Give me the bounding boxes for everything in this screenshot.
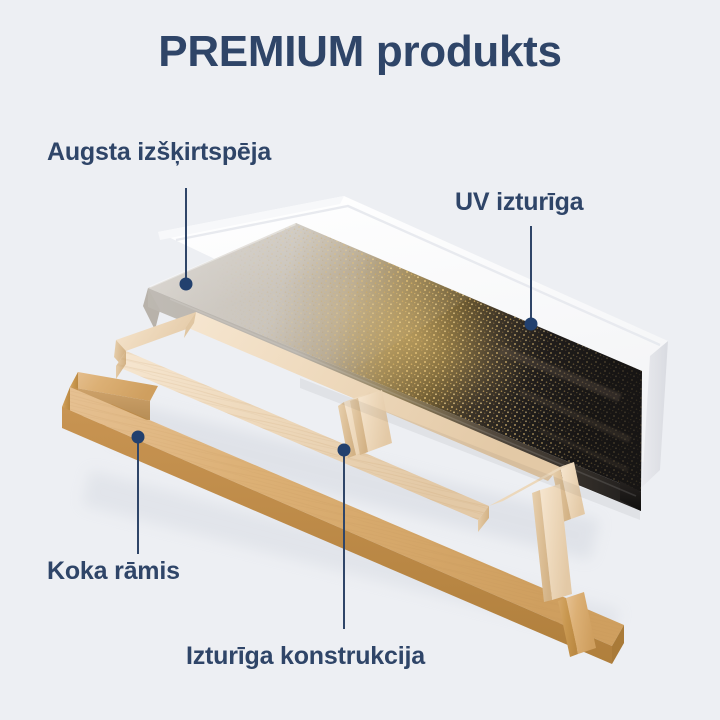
callout-dot-resolution: [180, 278, 193, 291]
callout-leader-line-resolution: [185, 188, 187, 284]
callout-dot-construction: [338, 444, 351, 457]
callout-label-uv: UV izturīga: [455, 188, 583, 217]
callout-label-wooden-frame: Koka rāmis: [47, 557, 180, 586]
callout-label-resolution: Augsta izšķirtspēja: [47, 138, 271, 167]
callout-label-construction: Izturīga konstrukcija: [186, 642, 425, 671]
product-illustration: [0, 0, 720, 720]
page-title: PREMIUM produkts: [0, 27, 720, 77]
callout-dot-uv: [525, 318, 538, 331]
callout-leader-line-wooden-frame: [137, 437, 139, 554]
poster-canvas: PREMIUM produkts Augsta izšķirtspēja UV …: [0, 0, 720, 720]
callout-leader-line-uv: [530, 226, 532, 324]
callout-leader-line-construction: [343, 450, 345, 629]
callout-dot-wooden-frame: [132, 431, 145, 444]
